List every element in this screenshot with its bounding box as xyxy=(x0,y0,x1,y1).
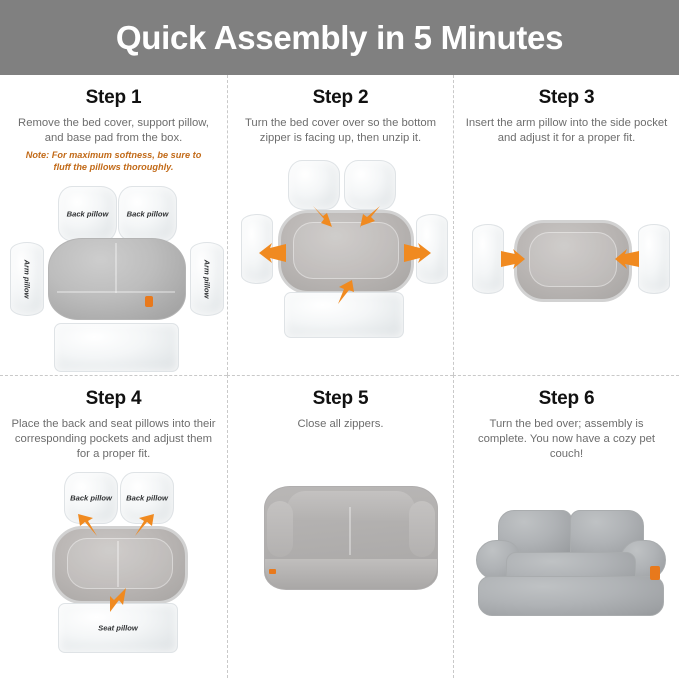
couch-base xyxy=(478,576,664,616)
back-pillow-left-label: Back pillow xyxy=(65,493,117,502)
brand-tag xyxy=(269,569,276,574)
back-pillow-right: Back pillow xyxy=(118,186,177,242)
step-cell-4: Step 4 Place the back and seat pillows i… xyxy=(0,375,227,678)
step-2-title: Step 2 xyxy=(313,87,369,109)
brand-tag xyxy=(145,296,153,307)
step-4-illustration: Back pillow Back pillow Seat pillow xyxy=(8,468,219,678)
step-4-title: Step 4 xyxy=(86,388,142,410)
back-pillow-right xyxy=(344,160,396,210)
step-1-illustration: Back pillow Back pillow Arm pillow Arm p… xyxy=(8,180,219,375)
step-cell-2: Step 2 Turn the bed cover over so the bo… xyxy=(227,75,453,375)
bed-cover xyxy=(48,238,186,320)
page-title: Quick Assembly in 5 Minutes xyxy=(116,21,563,54)
step-5-illustration xyxy=(236,438,445,678)
step-2-description: Turn the bed cover over so the bottom zi… xyxy=(238,116,443,146)
seat-pillow-label: Seat pillow xyxy=(59,623,177,632)
step-6-description: Turn the bed over; assembly is complete.… xyxy=(464,417,669,462)
step-cell-5: Step 5 Close all zippers. xyxy=(227,375,453,678)
page-header: Quick Assembly in 5 Minutes xyxy=(0,0,679,75)
arm-pillow-left-label: Arm pillow xyxy=(23,259,32,298)
bed-rim-left xyxy=(267,501,293,557)
step-3-description: Insert the arm pillow into the side pock… xyxy=(464,116,669,146)
step-4-description: Place the back and seat pillows into the… xyxy=(11,417,216,462)
step-cell-6: Step 6 Turn the bed over; assembly is co… xyxy=(453,375,679,678)
cover-opening xyxy=(529,232,617,287)
base-pad xyxy=(54,323,179,372)
bed-rim-top xyxy=(287,491,415,521)
step-cell-1: Step 1 Remove the bed cover, support pil… xyxy=(0,75,227,375)
back-pillow-right-label: Back pillow xyxy=(121,493,173,502)
step-3-title: Step 3 xyxy=(539,87,595,109)
step-3-illustration xyxy=(462,152,671,375)
step-5-description: Close all zippers. xyxy=(297,417,383,432)
step-1-title: Step 1 xyxy=(86,87,142,109)
bed-base-bottom xyxy=(265,559,437,589)
step-2-illustration xyxy=(236,152,445,375)
back-pillow-left-label: Back pillow xyxy=(59,209,116,218)
back-pillow-right-label: Back pillow xyxy=(119,209,176,218)
brand-tag xyxy=(650,566,660,580)
back-pillow-left: Back pillow xyxy=(58,186,117,242)
cover-opening xyxy=(293,222,399,279)
step-6-title: Step 6 xyxy=(539,388,595,410)
arm-pillow-left: Arm pillow xyxy=(10,242,44,316)
arm-pillow-right: Arm pillow xyxy=(190,242,224,316)
zipper-seam xyxy=(349,507,351,555)
step-1-note: Note: For maximum softness, be sure to f… xyxy=(19,150,209,174)
step-cell-3: Step 3 Insert the arm pillow into the si… xyxy=(453,75,679,375)
assembled-bed-upside-down xyxy=(264,486,438,590)
step-1-description: Remove the bed cover, support pillow, an… xyxy=(11,116,216,146)
cover-seam-vertical xyxy=(115,243,117,293)
back-pillow-left xyxy=(288,160,340,210)
step-6-illustration xyxy=(462,468,671,678)
cover-seam-horizontal xyxy=(57,291,175,293)
arm-pillow-right-label: Arm pillow xyxy=(203,259,212,298)
step-5-title: Step 5 xyxy=(313,388,369,410)
cover-opening xyxy=(67,538,173,589)
arm-pillow-right xyxy=(638,224,670,294)
bed-rim-right xyxy=(409,501,435,557)
steps-grid: Step 1 Remove the bed cover, support pil… xyxy=(0,75,679,678)
pocket-seam xyxy=(117,541,119,587)
